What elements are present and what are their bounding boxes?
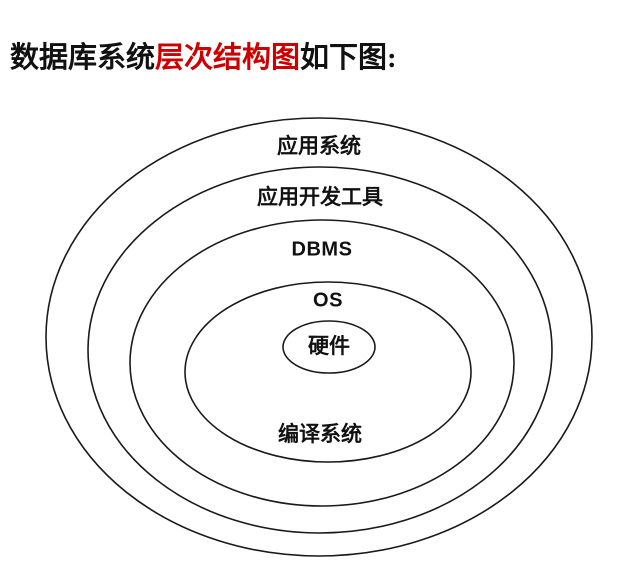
- page-title: 数据库系统层次结构图如下图:: [10, 38, 397, 78]
- label-dbms: DBMS: [292, 238, 353, 260]
- label-os: OS: [313, 289, 343, 311]
- page-title-segment-accent: 层次结构图: [155, 42, 300, 74]
- page-root: 数据库系统层次结构图如下图: 应用系统 应用开发工具 DBMS OS 硬件 编译…: [0, 0, 631, 569]
- label-application-system: 应用系统: [277, 134, 361, 158]
- label-hardware: 硬件: [308, 334, 350, 358]
- layer-diagram: 应用系统 应用开发工具 DBMS OS 硬件 编译系统: [0, 95, 631, 569]
- page-title-segment-3: 如下图:: [300, 42, 397, 74]
- concentric-ellipse-svg: 应用系统 应用开发工具 DBMS OS 硬件 编译系统: [0, 95, 631, 569]
- label-application-development-tools: 应用开发工具: [257, 185, 383, 209]
- label-compiler-system: 编译系统: [278, 422, 362, 446]
- page-title-segment-1: 数据库系统: [10, 42, 155, 74]
